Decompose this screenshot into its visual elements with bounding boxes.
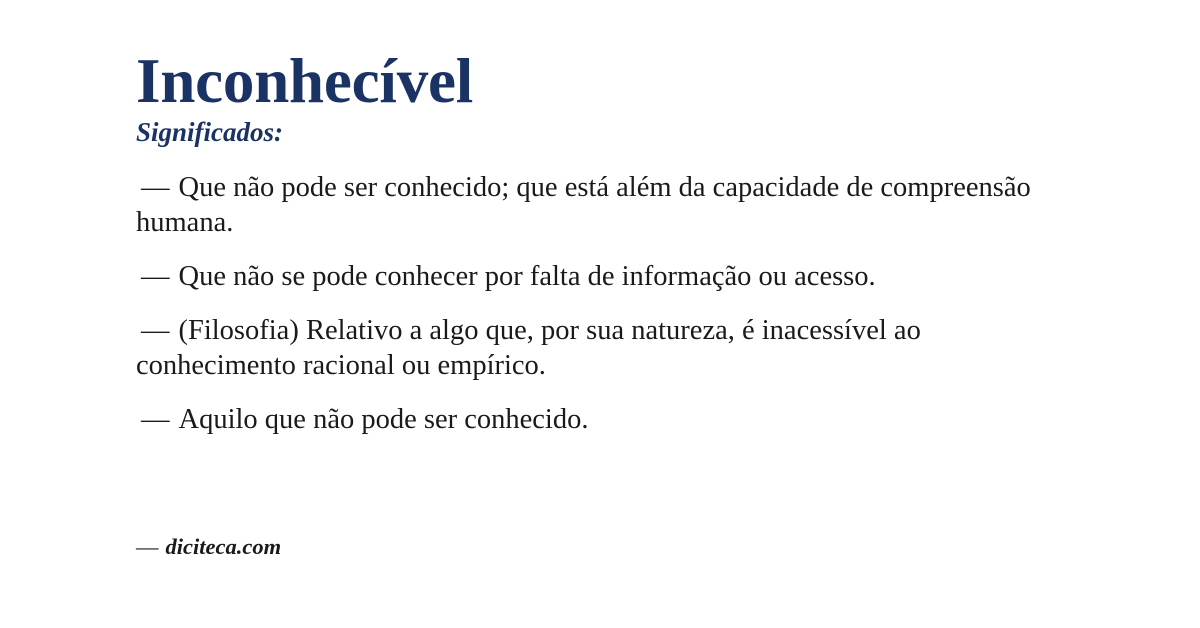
definitions-list: —Que não pode ser conhecido; que está al… (136, 170, 1066, 437)
source-attribution: —diciteca.com (136, 533, 281, 561)
definition-text: Que não pode ser conhecido; que está alé… (136, 172, 1031, 238)
definition-item: —Aquilo que não pode ser conhecido. (136, 402, 1066, 437)
source-name: diciteca.com (166, 534, 282, 559)
definition-item: —Que não se pode conhecer por falta de i… (136, 259, 1066, 294)
meanings-label: Significados: (136, 117, 1066, 148)
em-dash-icon: — (136, 172, 179, 203)
definition-item: —(Filosofia) Relativo a algo que, por su… (136, 313, 1066, 383)
definition-item: —Que não pode ser conhecido; que está al… (136, 170, 1066, 240)
definition-card: Inconhecível Significados: —Que não pode… (0, 0, 1200, 628)
entry-content: Inconhecível Significados: —Que não pode… (136, 48, 1066, 456)
em-dash-icon: — (136, 404, 179, 435)
definition-text: Que não se pode conhecer por falta de in… (179, 261, 876, 292)
em-dash-icon: — (136, 261, 179, 292)
page-title: Inconhecível (136, 48, 1066, 115)
em-dash-icon: — (136, 315, 179, 346)
definition-text: (Filosofia) Relativo a algo que, por sua… (136, 315, 921, 381)
definition-text: Aquilo que não pode ser conhecido. (179, 404, 589, 435)
em-dash-icon: — (136, 534, 166, 559)
